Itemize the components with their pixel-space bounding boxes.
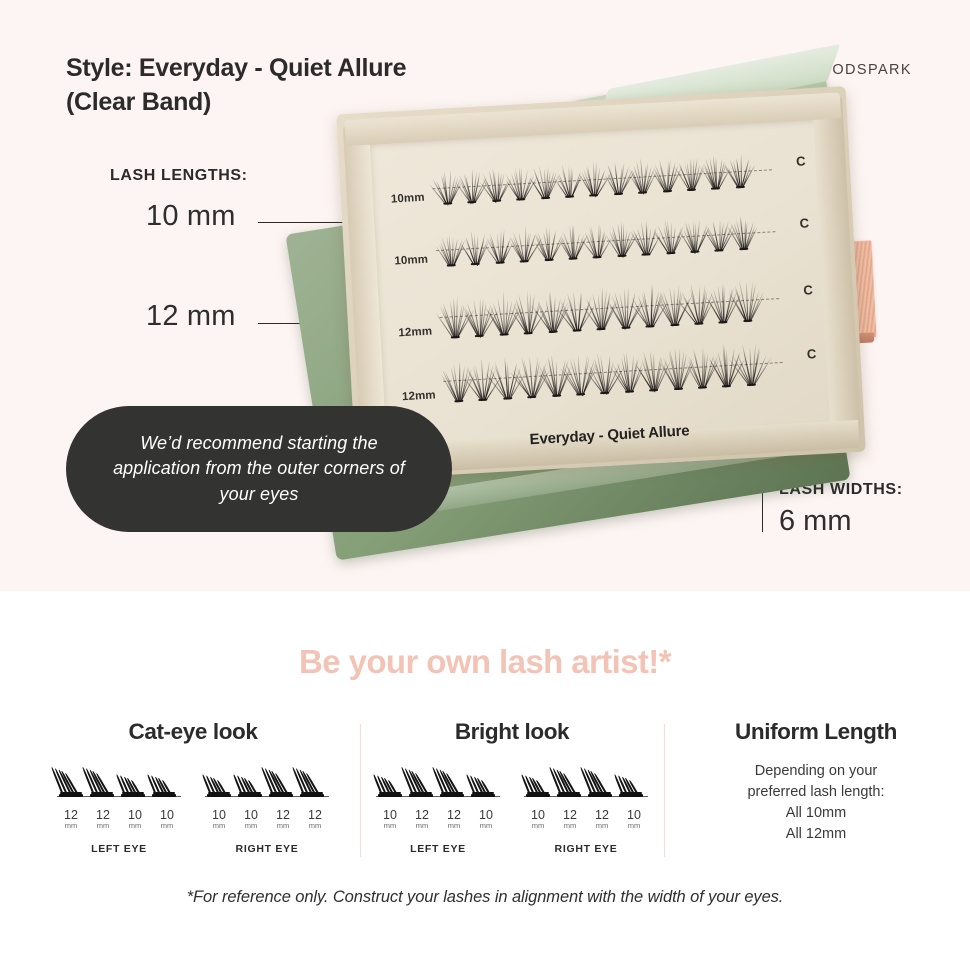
segment-length-unit: mm <box>378 822 402 830</box>
segment-length-unit: mm <box>303 822 327 830</box>
lash-segment <box>526 761 550 797</box>
lash-cluster <box>741 284 752 322</box>
lash-cluster <box>452 364 463 402</box>
lash-segment-diagram <box>376 761 500 807</box>
lash-segment <box>440 761 464 797</box>
lash-segment <box>300 761 324 797</box>
segment-length-cell: 10mm <box>239 809 263 830</box>
lash-segment <box>207 761 231 797</box>
lash-segment <box>121 761 145 797</box>
segment-length-unit: mm <box>474 822 498 830</box>
look-title-cat-eye: Cat-eye look <box>28 719 358 745</box>
lash-cluster <box>564 167 575 197</box>
lash-cluster <box>619 290 630 328</box>
lash-cluster <box>668 288 679 326</box>
lash-cluster <box>591 228 602 258</box>
lash-segment <box>619 761 643 797</box>
segment-length-unit: mm <box>207 822 231 830</box>
eye-side-label: LEFT EYE <box>57 843 181 855</box>
bright-look-diagrams: 10mm12mm12mm10mmLEFT EYE10mm12mm12mm10mm… <box>362 761 662 855</box>
segment-length-unit: mm <box>526 822 550 830</box>
segment-length-labels: 12mm12mm10mm10mm <box>57 809 181 830</box>
segment-length-cell: 10mm <box>378 809 402 830</box>
lash-cluster <box>550 358 561 396</box>
top-section: Style: Everyday - Quiet Allure (Clear Ba… <box>0 0 970 591</box>
segment-length-cell: 12mm <box>442 809 466 830</box>
lash-row-curl-label: C <box>799 215 809 231</box>
lash-cluster <box>692 286 703 324</box>
bottom-section: Be your own lash artist!* Cat-eye look 1… <box>0 591 970 970</box>
lash-cluster <box>588 166 599 196</box>
lash-cluster <box>612 165 623 195</box>
lash-cluster <box>640 225 651 255</box>
lash-cluster <box>574 357 585 395</box>
lash-cluster <box>543 231 554 261</box>
lash-length-value-12mm: 12 mm <box>146 300 236 333</box>
segment-length-labels: 10mm12mm12mm10mm <box>376 809 500 830</box>
infographic-page: Style: Everyday - Quiet Allure (Clear Ba… <box>0 0 970 970</box>
segment-length-cell: 10mm <box>207 809 231 830</box>
uniform-line-4: All 12mm <box>666 824 966 845</box>
eye-side-label: RIGHT EYE <box>205 843 329 855</box>
segment-length-cell: 12mm <box>303 809 327 830</box>
lash-cluster <box>738 220 749 250</box>
lash-segment-diagram <box>524 761 648 807</box>
segment-length-cell: 12mm <box>91 809 115 830</box>
segment-length-unit: mm <box>239 822 263 830</box>
lash-cluster <box>664 224 675 254</box>
lash-cluster <box>717 285 728 323</box>
eye-diagram: 10mm12mm12mm10mmLEFT EYE <box>376 761 500 855</box>
lash-row-length-label: 10mm <box>394 254 428 268</box>
lash-cluster <box>470 235 481 265</box>
eye-diagram: 10mm10mm12mm12mmRIGHT EYE <box>205 761 329 855</box>
segment-length-cell: 12mm <box>590 809 614 830</box>
lash-cluster <box>689 223 700 253</box>
lash-cluster <box>616 227 627 257</box>
segment-length-cell: 10mm <box>526 809 550 830</box>
lash-cluster <box>734 158 745 188</box>
lash-cluster <box>595 292 606 330</box>
uniform-line-1: Depending on your <box>666 761 966 782</box>
lash-tray: 10mmC10mmC12mmC12mmC <box>393 141 817 425</box>
uniform-line-3: All 10mm <box>666 803 966 824</box>
lash-cluster <box>445 236 456 266</box>
segment-length-labels: 10mm12mm12mm10mm <box>524 809 648 830</box>
section-heading: Be your own lash artist!* <box>0 643 970 681</box>
lash-cluster <box>449 300 460 338</box>
lash-cluster <box>494 233 505 263</box>
lash-segment <box>588 761 612 797</box>
lash-segment <box>59 761 83 797</box>
lash-row-curl-label: C <box>806 346 816 362</box>
lash-segment-diagram <box>205 761 329 807</box>
lash-cluster <box>745 348 756 386</box>
lash-cluster <box>647 353 658 391</box>
segment-length-cell: 10mm <box>123 809 147 830</box>
lash-segment <box>471 761 495 797</box>
eye-side-label: RIGHT EYE <box>524 843 648 855</box>
lash-cluster <box>466 173 477 203</box>
lash-segment <box>90 761 114 797</box>
lash-cluster <box>515 170 526 200</box>
lash-row-curl-label: C <box>803 282 813 298</box>
lash-cluster <box>713 221 724 251</box>
lash-cluster <box>598 356 609 394</box>
looks-row: Cat-eye look 12mm12mm10mm10mmLEFT EYE10m… <box>0 719 970 864</box>
tip-bubble-text: We’d recommend starting the application … <box>66 431 452 508</box>
segment-length-cell: 10mm <box>474 809 498 830</box>
lash-row-length-label: 12mm <box>402 389 436 403</box>
lash-cluster <box>473 299 484 337</box>
segment-length-cell: 12mm <box>410 809 434 830</box>
eye-diagram: 12mm12mm10mm10mmLEFT EYE <box>57 761 181 855</box>
lash-row-length-label: 10mm <box>391 192 425 206</box>
lash-cluster <box>522 296 533 334</box>
segment-length-unit: mm <box>410 822 434 830</box>
segment-length-cell: 12mm <box>59 809 83 830</box>
segment-length-unit: mm <box>442 822 466 830</box>
segment-length-cell: 10mm <box>155 809 179 830</box>
lash-row-length-label: 12mm <box>398 326 432 340</box>
segment-length-cell: 12mm <box>558 809 582 830</box>
lash-cluster <box>525 360 536 398</box>
eye-side-label: LEFT EYE <box>376 843 500 855</box>
segment-length-unit: mm <box>590 822 614 830</box>
lash-tray-row: 12mmC <box>448 273 768 339</box>
segment-length-unit: mm <box>155 822 179 830</box>
lash-cluster <box>539 169 550 199</box>
lash-segment <box>269 761 293 797</box>
lash-tray-row: 12mmC <box>452 337 772 403</box>
column-divider-1 <box>360 724 361 857</box>
lash-cluster <box>501 361 512 399</box>
lash-tray-row: 10mmC <box>445 209 765 267</box>
lash-cluster <box>696 350 707 388</box>
segment-length-cell: 10mm <box>622 809 646 830</box>
look-column-cat-eye: Cat-eye look 12mm12mm10mm10mmLEFT EYE10m… <box>28 719 358 864</box>
lash-segment <box>152 761 176 797</box>
lash-cluster <box>442 174 453 204</box>
segment-length-unit: mm <box>271 822 295 830</box>
lash-cluster <box>661 162 672 192</box>
segment-length-labels: 10mm10mm12mm12mm <box>205 809 329 830</box>
look-column-uniform: Uniform Length Depending on your preferr… <box>666 719 966 864</box>
lash-lengths-label: LASH LENGTHS: <box>110 167 248 185</box>
lash-cluster <box>490 171 501 201</box>
lash-length-value-10mm: 10 mm <box>146 200 236 233</box>
lash-cluster <box>546 295 557 333</box>
eye-diagram: 10mm12mm12mm10mmRIGHT EYE <box>524 761 648 855</box>
lash-segment <box>409 761 433 797</box>
lash-cluster <box>518 232 529 262</box>
look-column-bright: Bright look 10mm12mm12mm10mmLEFT EYE10mm… <box>362 719 662 864</box>
lash-cluster <box>637 163 648 193</box>
uniform-line-2: preferred lash length: <box>666 782 966 803</box>
segment-length-unit: mm <box>91 822 115 830</box>
lash-segment <box>378 761 402 797</box>
lash-segment-diagram <box>57 761 181 807</box>
cat-eye-diagrams: 12mm12mm10mm10mmLEFT EYE10mm10mm12mm12mm… <box>28 761 358 855</box>
tip-bubble: We’d recommend starting the application … <box>66 406 452 532</box>
lash-cluster <box>710 159 721 189</box>
lash-cluster <box>672 352 683 390</box>
lash-cluster <box>571 293 582 331</box>
lash-segment <box>238 761 262 797</box>
look-title-uniform: Uniform Length <box>666 719 966 745</box>
lash-cluster <box>623 354 634 392</box>
lash-cluster <box>644 289 655 327</box>
column-divider-2 <box>664 724 665 857</box>
segment-length-unit: mm <box>123 822 147 830</box>
lash-cluster <box>477 363 488 401</box>
segment-length-unit: mm <box>622 822 646 830</box>
uniform-description: Depending on your preferred lash length:… <box>666 761 966 845</box>
lash-cluster <box>567 229 578 259</box>
segment-length-unit: mm <box>558 822 582 830</box>
look-title-bright: Bright look <box>362 719 662 745</box>
lash-cluster <box>685 161 696 191</box>
segment-length-unit: mm <box>59 822 83 830</box>
lash-cluster <box>497 297 508 335</box>
footnote: *For reference only. Construct your lash… <box>0 888 970 907</box>
segment-length-cell: 12mm <box>271 809 295 830</box>
lash-row-curl-label: C <box>796 153 806 169</box>
lash-segment <box>557 761 581 797</box>
lash-cluster <box>720 349 731 387</box>
